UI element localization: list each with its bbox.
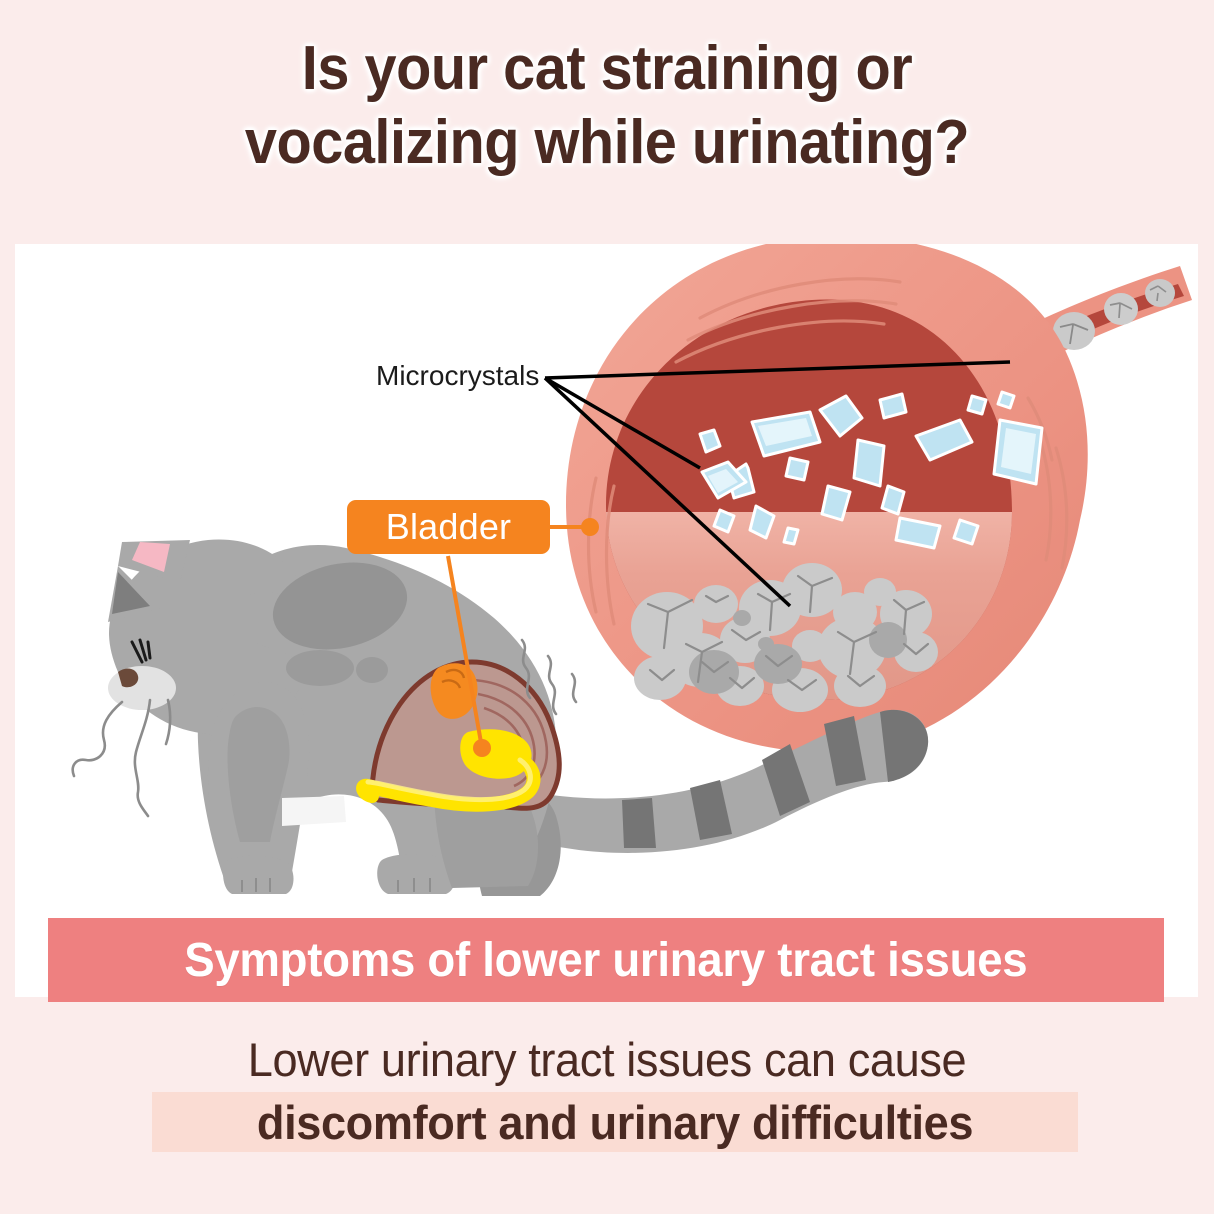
illustration-panel (15, 244, 1198, 997)
footer-line-1: Lower urinary tract issues can cause (24, 1032, 1189, 1087)
footer-line-2: discomfort and urinary difficulties (257, 1095, 973, 1150)
footer-highlight: discomfort and urinary difficulties (152, 1092, 1078, 1152)
symptoms-banner: Symptoms of lower urinary tract issues (48, 918, 1164, 1002)
bladder-label: Bladder (347, 500, 550, 554)
microcrystals-label: Microcrystals (376, 360, 539, 392)
page-title: Is your cat straining or vocalizing whil… (42, 32, 1171, 180)
headline-line-1: Is your cat straining or (302, 34, 912, 103)
symptoms-banner-text: Symptoms of lower urinary tract issues (184, 933, 1027, 988)
infographic-root: Is your cat straining or vocalizing whil… (0, 0, 1214, 1214)
headline-line-2: vocalizing while urinating? (42, 106, 1171, 180)
bladder-label-text: Bladder (386, 506, 511, 548)
